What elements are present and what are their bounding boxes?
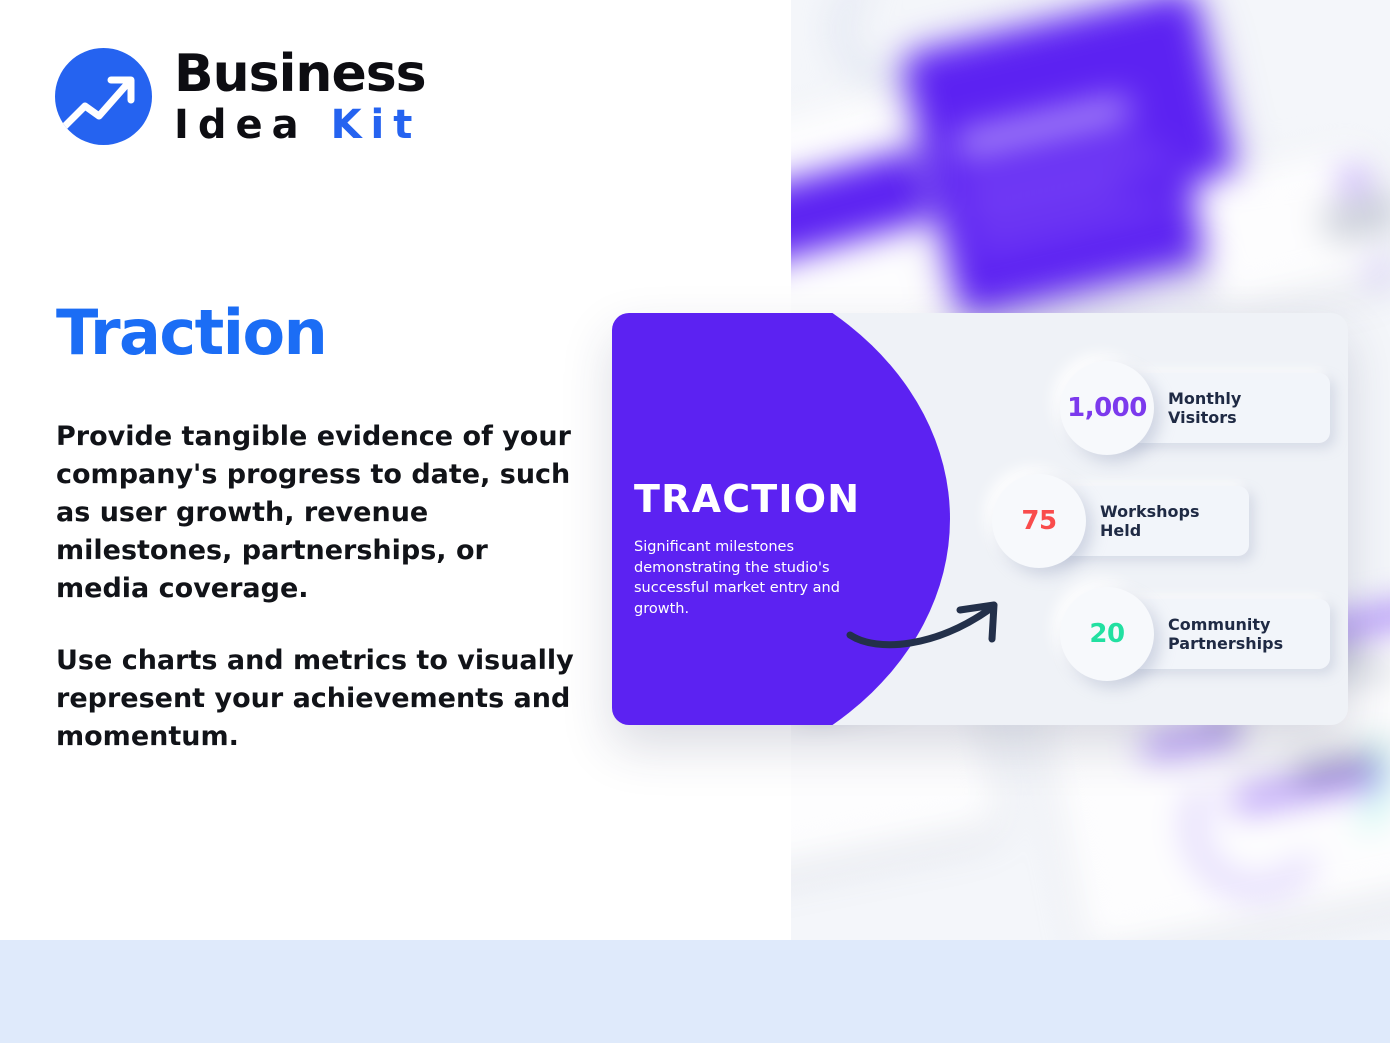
brand-name-line1: Business: [174, 48, 426, 100]
page-body-copy: Provide tangible evidence of your compan…: [56, 418, 576, 756]
metric-label: Workshops Held: [1100, 502, 1227, 540]
metric-value-circle: 1,000: [1060, 361, 1154, 455]
metric-workshops-held[interactable]: 75 Workshops Held: [992, 474, 1249, 568]
metric-label: Monthly Visitors: [1168, 389, 1308, 427]
brand-logo: Business Idea Kit: [55, 48, 426, 145]
metric-value-circle: 75: [992, 474, 1086, 568]
metric-value: 75: [1021, 506, 1056, 536]
brand-name-line2: Idea Kit: [174, 105, 426, 145]
background-card-problem: [901, 0, 1254, 316]
body-paragraph-1: Provide tangible evidence of your compan…: [56, 418, 576, 608]
bottom-accent-band: [0, 940, 1390, 1043]
metric-value: 1,000: [1067, 393, 1147, 423]
growth-chart-circle-icon: [55, 48, 152, 145]
page-title: Traction: [56, 296, 326, 369]
slide-title: TRACTION: [634, 477, 860, 521]
metric-value: 20: [1089, 619, 1124, 649]
metric-monthly-visitors[interactable]: 1,000 Monthly Visitors: [1060, 361, 1330, 455]
traction-slide-card[interactable]: TRACTION Significant milestones demonstr…: [612, 313, 1348, 725]
brand-name-idea: Idea: [174, 102, 331, 148]
brand-wordmark: Business Idea Kit: [174, 48, 426, 145]
metric-community-partnerships[interactable]: 20 Community Partnerships: [1060, 587, 1330, 681]
metric-value-circle: 20: [1060, 587, 1154, 681]
body-paragraph-2: Use charts and metrics to visually repre…: [56, 642, 576, 756]
metric-label: Community Partnerships: [1168, 615, 1308, 653]
slide-preview-page: Business Idea Kit Traction Provide tangi…: [0, 0, 1390, 1043]
brand-name-kit: Kit: [331, 102, 422, 148]
curved-growth-arrow-icon: [844, 591, 1014, 661]
